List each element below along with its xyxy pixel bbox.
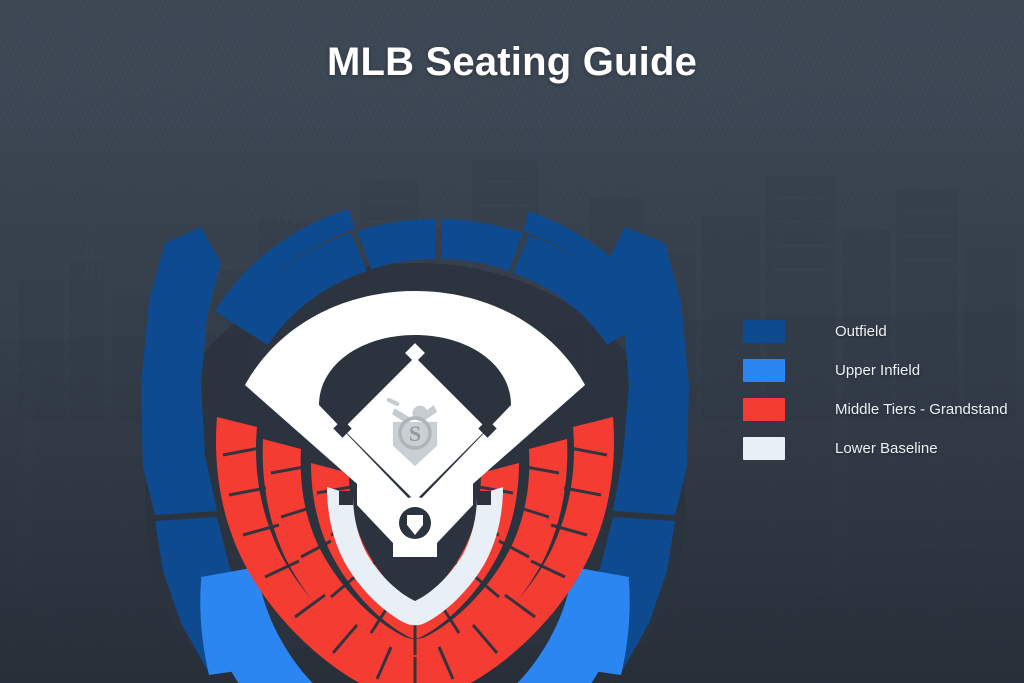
legend-label-lower-baseline: Lower Baseline bbox=[835, 440, 938, 457]
legend-item-upper-infield[interactable]: Upper Infield bbox=[743, 351, 1008, 390]
svg-text:S: S bbox=[409, 421, 421, 446]
legend: Outfield Upper Infield Middle Tiers - Gr… bbox=[743, 312, 1008, 468]
legend-label-upper-infield: Upper Infield bbox=[835, 362, 920, 379]
legend-swatch-upper-infield bbox=[743, 359, 785, 382]
stadium-diagram: S bbox=[105, 205, 725, 665]
legend-label-outfield: Outfield bbox=[835, 323, 887, 340]
legend-item-outfield[interactable]: Outfield bbox=[743, 312, 1008, 351]
stadium-diagram-svg: S bbox=[105, 205, 725, 665]
legend-label-middle-tiers-grandstand: Middle Tiers - Grandstand bbox=[835, 401, 1008, 418]
page-title: MLB Seating Guide bbox=[0, 40, 1024, 85]
legend-item-lower-baseline[interactable]: Lower Baseline bbox=[743, 429, 1008, 468]
seating-guide-canvas: MLB Seating Guide bbox=[0, 0, 1024, 683]
legend-swatch-lower-baseline bbox=[743, 437, 785, 460]
legend-swatch-outfield bbox=[743, 320, 785, 343]
legend-swatch-middle-tiers-grandstand bbox=[743, 398, 785, 421]
legend-item-middle-tiers-grandstand[interactable]: Middle Tiers - Grandstand bbox=[743, 390, 1008, 429]
